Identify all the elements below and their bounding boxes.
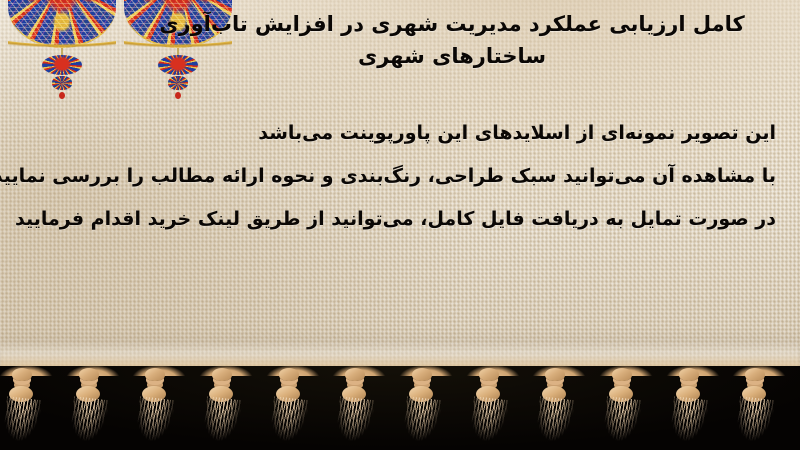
tassel-knot bbox=[279, 368, 299, 381]
slide-body-line-1: این تصویر نمونه‌ای از اسلایدهای این پاور… bbox=[16, 112, 776, 155]
carpet-fringe-tassels bbox=[0, 360, 800, 450]
tassel bbox=[261, 360, 325, 450]
tassel-brush bbox=[601, 396, 643, 450]
tassel-brush bbox=[134, 396, 176, 450]
tassel bbox=[394, 360, 458, 450]
tassel bbox=[61, 360, 125, 450]
tassel-knot bbox=[412, 368, 432, 381]
slide-title-line-2: ساختارهای شهری bbox=[142, 40, 762, 72]
ornament-pendant-small bbox=[52, 76, 72, 90]
slide-title: کامل ارزیابی عملکرد مدیریت شهری در افزای… bbox=[142, 8, 762, 72]
tassel-brush bbox=[534, 396, 576, 450]
slide-body-line-3: در صورت تمایل به دریافت فایل کامل، می‌تو… bbox=[16, 198, 776, 241]
tassel bbox=[127, 360, 191, 450]
tassel-brush bbox=[268, 396, 310, 450]
tassel-knot bbox=[212, 368, 232, 381]
tassel-knot bbox=[145, 368, 165, 381]
tassel-knot bbox=[345, 368, 365, 381]
tassel-knot bbox=[612, 368, 632, 381]
tassel-brush bbox=[468, 396, 510, 450]
tassel-brush bbox=[201, 396, 243, 450]
slide-body: این تصویر نمونه‌ای از اسلایدهای این پاور… bbox=[16, 112, 776, 241]
tassel-knot bbox=[745, 368, 765, 381]
tassel bbox=[194, 360, 258, 450]
tassel bbox=[527, 360, 591, 450]
slide-title-line-1: کامل ارزیابی عملکرد مدیریت شهری در افزای… bbox=[142, 8, 762, 40]
tassel-brush bbox=[734, 396, 776, 450]
ornament-pendant-small bbox=[168, 76, 188, 90]
tassel-brush bbox=[334, 396, 376, 450]
tassel bbox=[661, 360, 725, 450]
tassel-knot bbox=[12, 368, 32, 381]
ornament-pendant-dot bbox=[175, 92, 181, 99]
tassel-brush bbox=[668, 396, 710, 450]
tassel bbox=[594, 360, 658, 450]
persian-illumination-ornament-left bbox=[8, 0, 116, 96]
tassel bbox=[0, 360, 58, 450]
tassel bbox=[727, 360, 791, 450]
tassel-knot bbox=[679, 368, 699, 381]
tassel-brush bbox=[1, 396, 43, 450]
tassel bbox=[461, 360, 525, 450]
tassel bbox=[327, 360, 391, 450]
tassel-brush bbox=[68, 396, 110, 450]
ornament-pendant-dot bbox=[59, 92, 65, 99]
tassel-knot bbox=[545, 368, 565, 381]
tassel-brush bbox=[401, 396, 443, 450]
slide-body-line-2: با مشاهده آن می‌توانید سبک طراحی، رنگ‌بن… bbox=[16, 155, 776, 198]
tassel-knot bbox=[479, 368, 499, 381]
slide-canvas: کامل ارزیابی عملکرد مدیریت شهری در افزای… bbox=[0, 0, 800, 450]
tassel-knot bbox=[79, 368, 99, 381]
ornament-pendant-large bbox=[42, 55, 82, 75]
